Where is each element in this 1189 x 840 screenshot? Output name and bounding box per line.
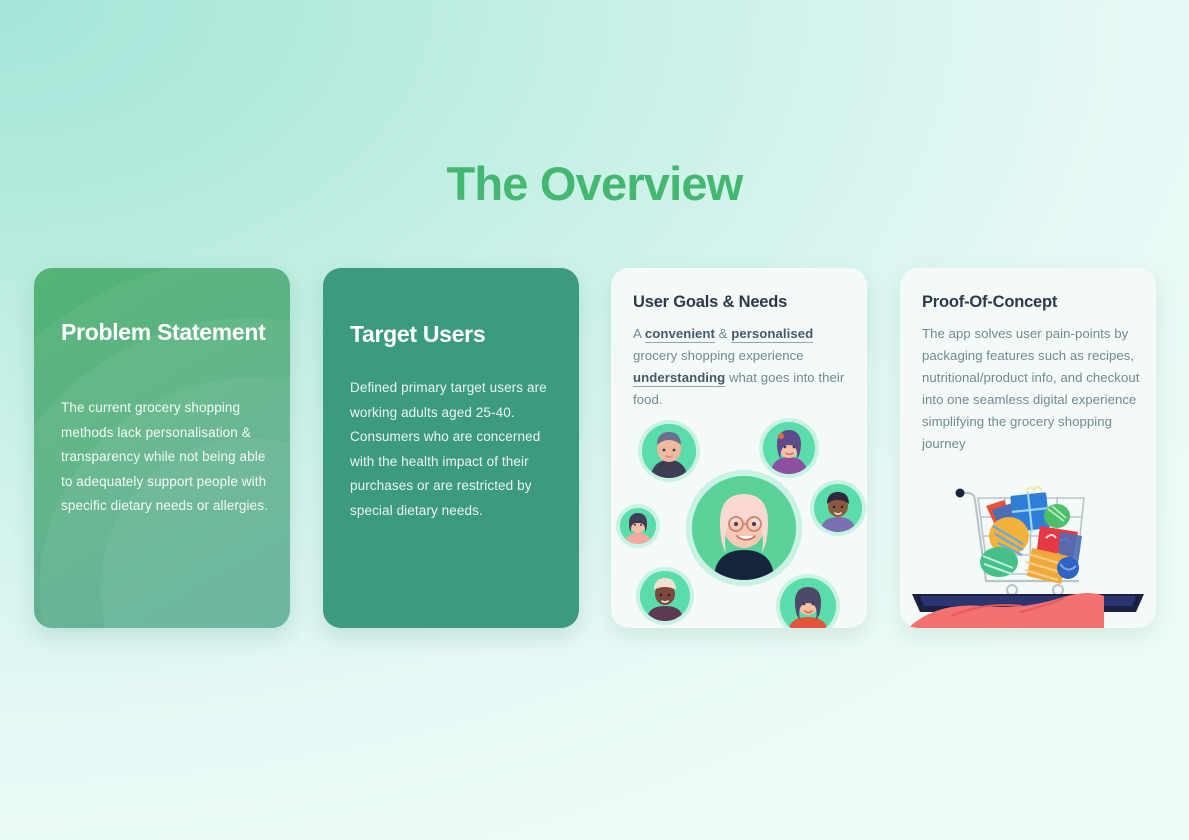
avatar-primary (692, 476, 796, 580)
card-proof-of-concept[interactable]: Proof-Of-Concept The app solves user pai… (900, 268, 1156, 628)
card-body: Defined primary target users are working… (350, 376, 563, 523)
card-problem-statement[interactable]: Problem Statement The current grocery sh… (34, 268, 290, 628)
card-body: The app solves user pain-points by packa… (922, 323, 1140, 455)
card-title: Target Users (350, 322, 557, 347)
emphasised-term: understanding (633, 370, 725, 387)
avatar (763, 422, 815, 474)
card-target-users[interactable]: Target Users Defined primary target user… (323, 268, 579, 628)
avatar (642, 424, 696, 478)
emphasised-term: convenient (645, 326, 715, 343)
page-title: The Overview (0, 158, 1189, 210)
avatar (780, 578, 836, 628)
emphasised-term: personalised (731, 326, 813, 343)
shopping-cart-illustration (900, 466, 1156, 628)
card-title: Proof-Of-Concept (922, 293, 1140, 312)
avatar (814, 484, 862, 532)
card-title: User Goals & Needs (633, 293, 851, 312)
user-avatars-cluster (611, 416, 867, 628)
card-body: The current grocery shopping methods lac… (61, 396, 274, 519)
overview-card-row: Problem Statement The current grocery sh… (0, 268, 1189, 630)
card-title: Problem Statement (61, 320, 268, 345)
overview-slide: The Overview Problem Statement The curre… (0, 0, 1189, 840)
card-user-goals-and-needs[interactable]: User Goals & Needs A convenient & person… (611, 268, 867, 628)
avatar (640, 571, 690, 621)
card-body: A convenient & personalised grocery shop… (633, 323, 851, 411)
avatar (620, 508, 656, 544)
